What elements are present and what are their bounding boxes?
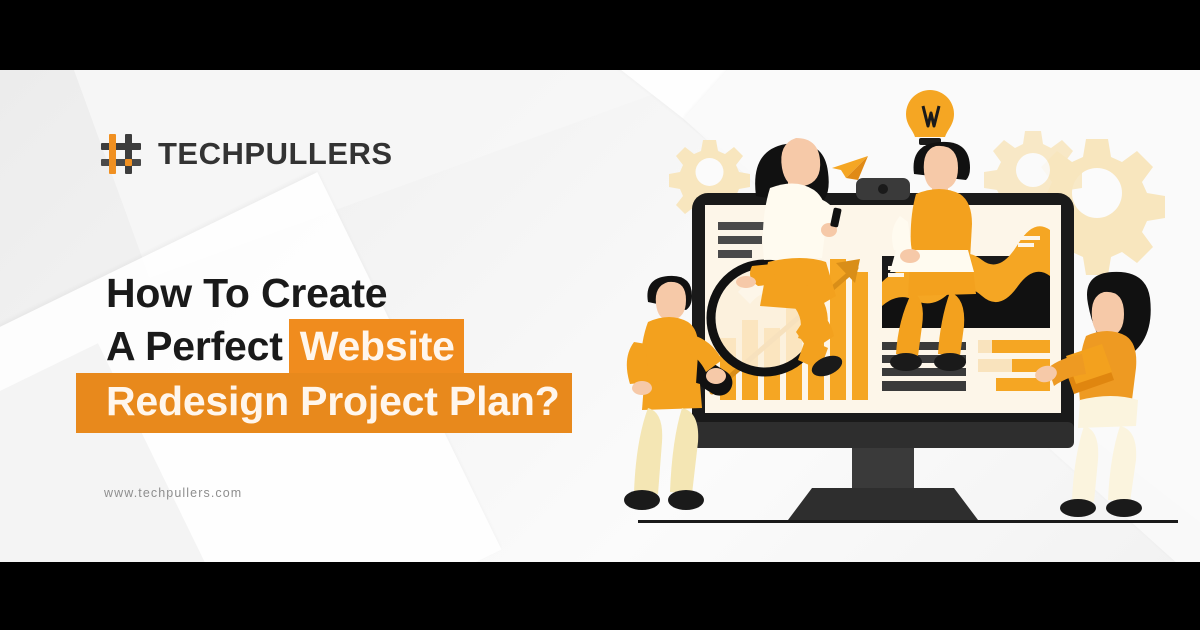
headline-line-2: A PerfectWebsite: [76, 320, 572, 374]
headline-highlight-website: Website: [289, 319, 464, 375]
hash-logo-icon: [100, 132, 144, 176]
screen-progress-bars: [978, 340, 1050, 391]
paper-plane-icon: [832, 156, 868, 180]
page-title: How To Create A PerfectWebsite Redesign …: [76, 268, 572, 433]
letterbox-bar-top: [0, 0, 1200, 70]
monitor-base: [788, 488, 978, 520]
brand-logo[interactable]: TECHPULLERS: [100, 132, 393, 176]
brand-name: TECHPULLERS: [158, 136, 393, 172]
banner-canvas: TECHPULLERS How To Create A PerfectWebsi…: [0, 70, 1200, 562]
headline-line-2-plain: A Perfect: [106, 323, 283, 369]
letterbox-bar-bottom: [0, 562, 1200, 630]
headline-line-3: Redesign Project Plan?: [76, 373, 572, 433]
team-analytics-monitor-illustration: [620, 70, 1200, 562]
floor-line: [638, 520, 1178, 523]
promo-banner: TECHPULLERS How To Create A PerfectWebsi…: [0, 0, 1200, 630]
monitor-neck: [852, 448, 914, 488]
headline-line-1: How To Create: [76, 268, 572, 320]
website-url[interactable]: www.techpullers.com: [104, 486, 242, 500]
